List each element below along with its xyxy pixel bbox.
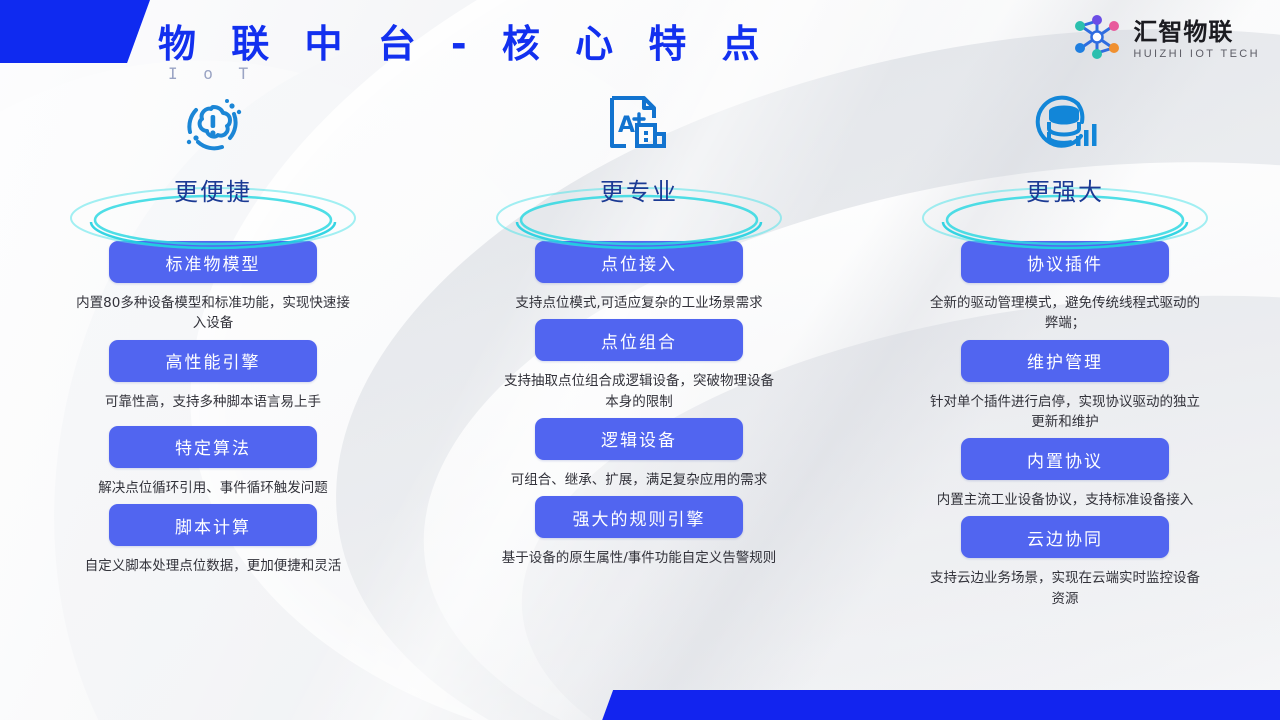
feature-card[interactable]: 脚本计算 自定义脚本处理点位数据，更加便捷和灵活 [63,504,363,576]
feature-pill[interactable]: 高性能引擎 [109,340,317,382]
brain-gear-icon [174,92,252,158]
feature-description: 可靠性高，支持多种脚本语言易上手 [73,392,353,412]
feature-card[interactable]: 强大的规则引擎 基于设备的原生属性/事件功能自定义告警规则 [489,496,789,568]
page-subtitle: I o T [168,64,256,83]
page-title: 物 联 中 台 - 核 心 特 点 [158,13,771,68]
feature-pill[interactable]: 维护管理 [961,340,1169,382]
feature-description: 可组合、继承、扩展，满足复杂应用的需求 [499,470,779,490]
feature-description: 支持云边业务场景，实现在云端实时监控设备资源 [925,568,1205,609]
brand-name-en: HUIZHI IOT TECH [1133,49,1260,60]
feature-card[interactable]: 逻辑设备 可组合、继承、扩展，满足复杂应用的需求 [489,418,789,490]
feature-pill[interactable]: 逻辑设备 [535,418,743,460]
column-title: 更便捷 [174,172,252,207]
feature-card[interactable]: 高性能引擎 可靠性高，支持多种脚本语言易上手 [63,340,363,412]
column-header: 更便捷 [63,86,363,241]
feature-card[interactable]: 内置协议 内置主流工业设备协议，支持标准设备接入 [915,438,1215,510]
feature-card-list: 点位接入 支持点位模式,可适应复杂的工业场景需求 点位组合 支持抽取点位组合成逻… [426,241,852,574]
molecule-network-icon [1069,14,1125,65]
feature-column-convenient: 更便捷 标准物模型 内置80多种设备模型和标准功能，实现快速接入设备 高性能引擎… [0,86,426,615]
feature-pill[interactable]: 脚本计算 [109,504,317,546]
column-header: A 更专业 [489,86,789,241]
feature-card[interactable]: 特定算法 解决点位循环引用、事件循环触发问题 [63,426,363,498]
feature-description: 内置主流工业设备协议，支持标准设备接入 [925,490,1205,510]
feature-pill[interactable]: 特定算法 [109,426,317,468]
feature-pill[interactable]: 点位组合 [535,319,743,361]
footer-accent-band [600,690,1280,720]
brand-logo-text: 汇智物联 HUIZHI IOT TECH [1133,20,1260,60]
feature-card[interactable]: 标准物模型 内置80多种设备模型和标准功能，实现快速接入设备 [63,241,363,334]
document-grade-icon: A [604,92,674,158]
feature-card[interactable]: 云边协同 支持云边业务场景，实现在云端实时监控设备资源 [915,516,1215,609]
column-title: 更专业 [600,172,678,207]
feature-card[interactable]: 点位组合 支持抽取点位组合成逻辑设备，突破物理设备本身的限制 [489,319,789,412]
feature-description: 基于设备的原生属性/事件功能自定义告警规则 [499,548,779,568]
database-chart-icon [1029,92,1101,158]
feature-description: 自定义脚本处理点位数据，更加便捷和灵活 [73,556,353,576]
feature-description: 支持抽取点位组合成逻辑设备，突破物理设备本身的限制 [499,371,779,412]
column-header: 更强大 [915,86,1215,241]
feature-card[interactable]: 维护管理 针对单个插件进行启停，实现协议驱动的独立更新和维护 [915,340,1215,433]
feature-pill[interactable]: 强大的规则引擎 [535,496,743,538]
feature-column-powerful: 更强大 协议插件 全新的驱动管理模式，避免传统线程式驱动的弊端； 维护管理 针对… [852,86,1278,615]
brand-logo: 汇智物联 HUIZHI IOT TECH [1069,14,1260,65]
brand-name-cn: 汇智物联 [1133,20,1260,44]
feature-pill[interactable]: 云边协同 [961,516,1169,558]
feature-columns: 更便捷 标准物模型 内置80多种设备模型和标准功能，实现快速接入设备 高性能引擎… [0,86,1280,615]
feature-description: 全新的驱动管理模式，避免传统线程式驱动的弊端； [925,293,1205,334]
feature-description: 解决点位循环引用、事件循环触发问题 [73,478,353,498]
column-title: 更强大 [1026,172,1104,207]
svg-text:A: A [618,113,635,138]
feature-column-professional: A 更专业 [426,86,852,615]
feature-card-list: 标准物模型 内置80多种设备模型和标准功能，实现快速接入设备 高性能引擎 可靠性… [0,241,426,582]
feature-card[interactable]: 协议插件 全新的驱动管理模式，避免传统线程式驱动的弊端； [915,241,1215,334]
feature-pill[interactable]: 内置协议 [961,438,1169,480]
slide-root: 物 联 中 台 - 核 心 特 点 I o T [0,0,1280,720]
feature-description: 内置80多种设备模型和标准功能，实现快速接入设备 [73,293,353,334]
feature-description: 支持点位模式,可适应复杂的工业场景需求 [499,293,779,313]
feature-description: 针对单个插件进行启停，实现协议驱动的独立更新和维护 [925,392,1205,433]
header-accent-band [0,0,150,63]
feature-card-list: 协议插件 全新的驱动管理模式，避免传统线程式驱动的弊端； 维护管理 针对单个插件… [852,241,1278,615]
